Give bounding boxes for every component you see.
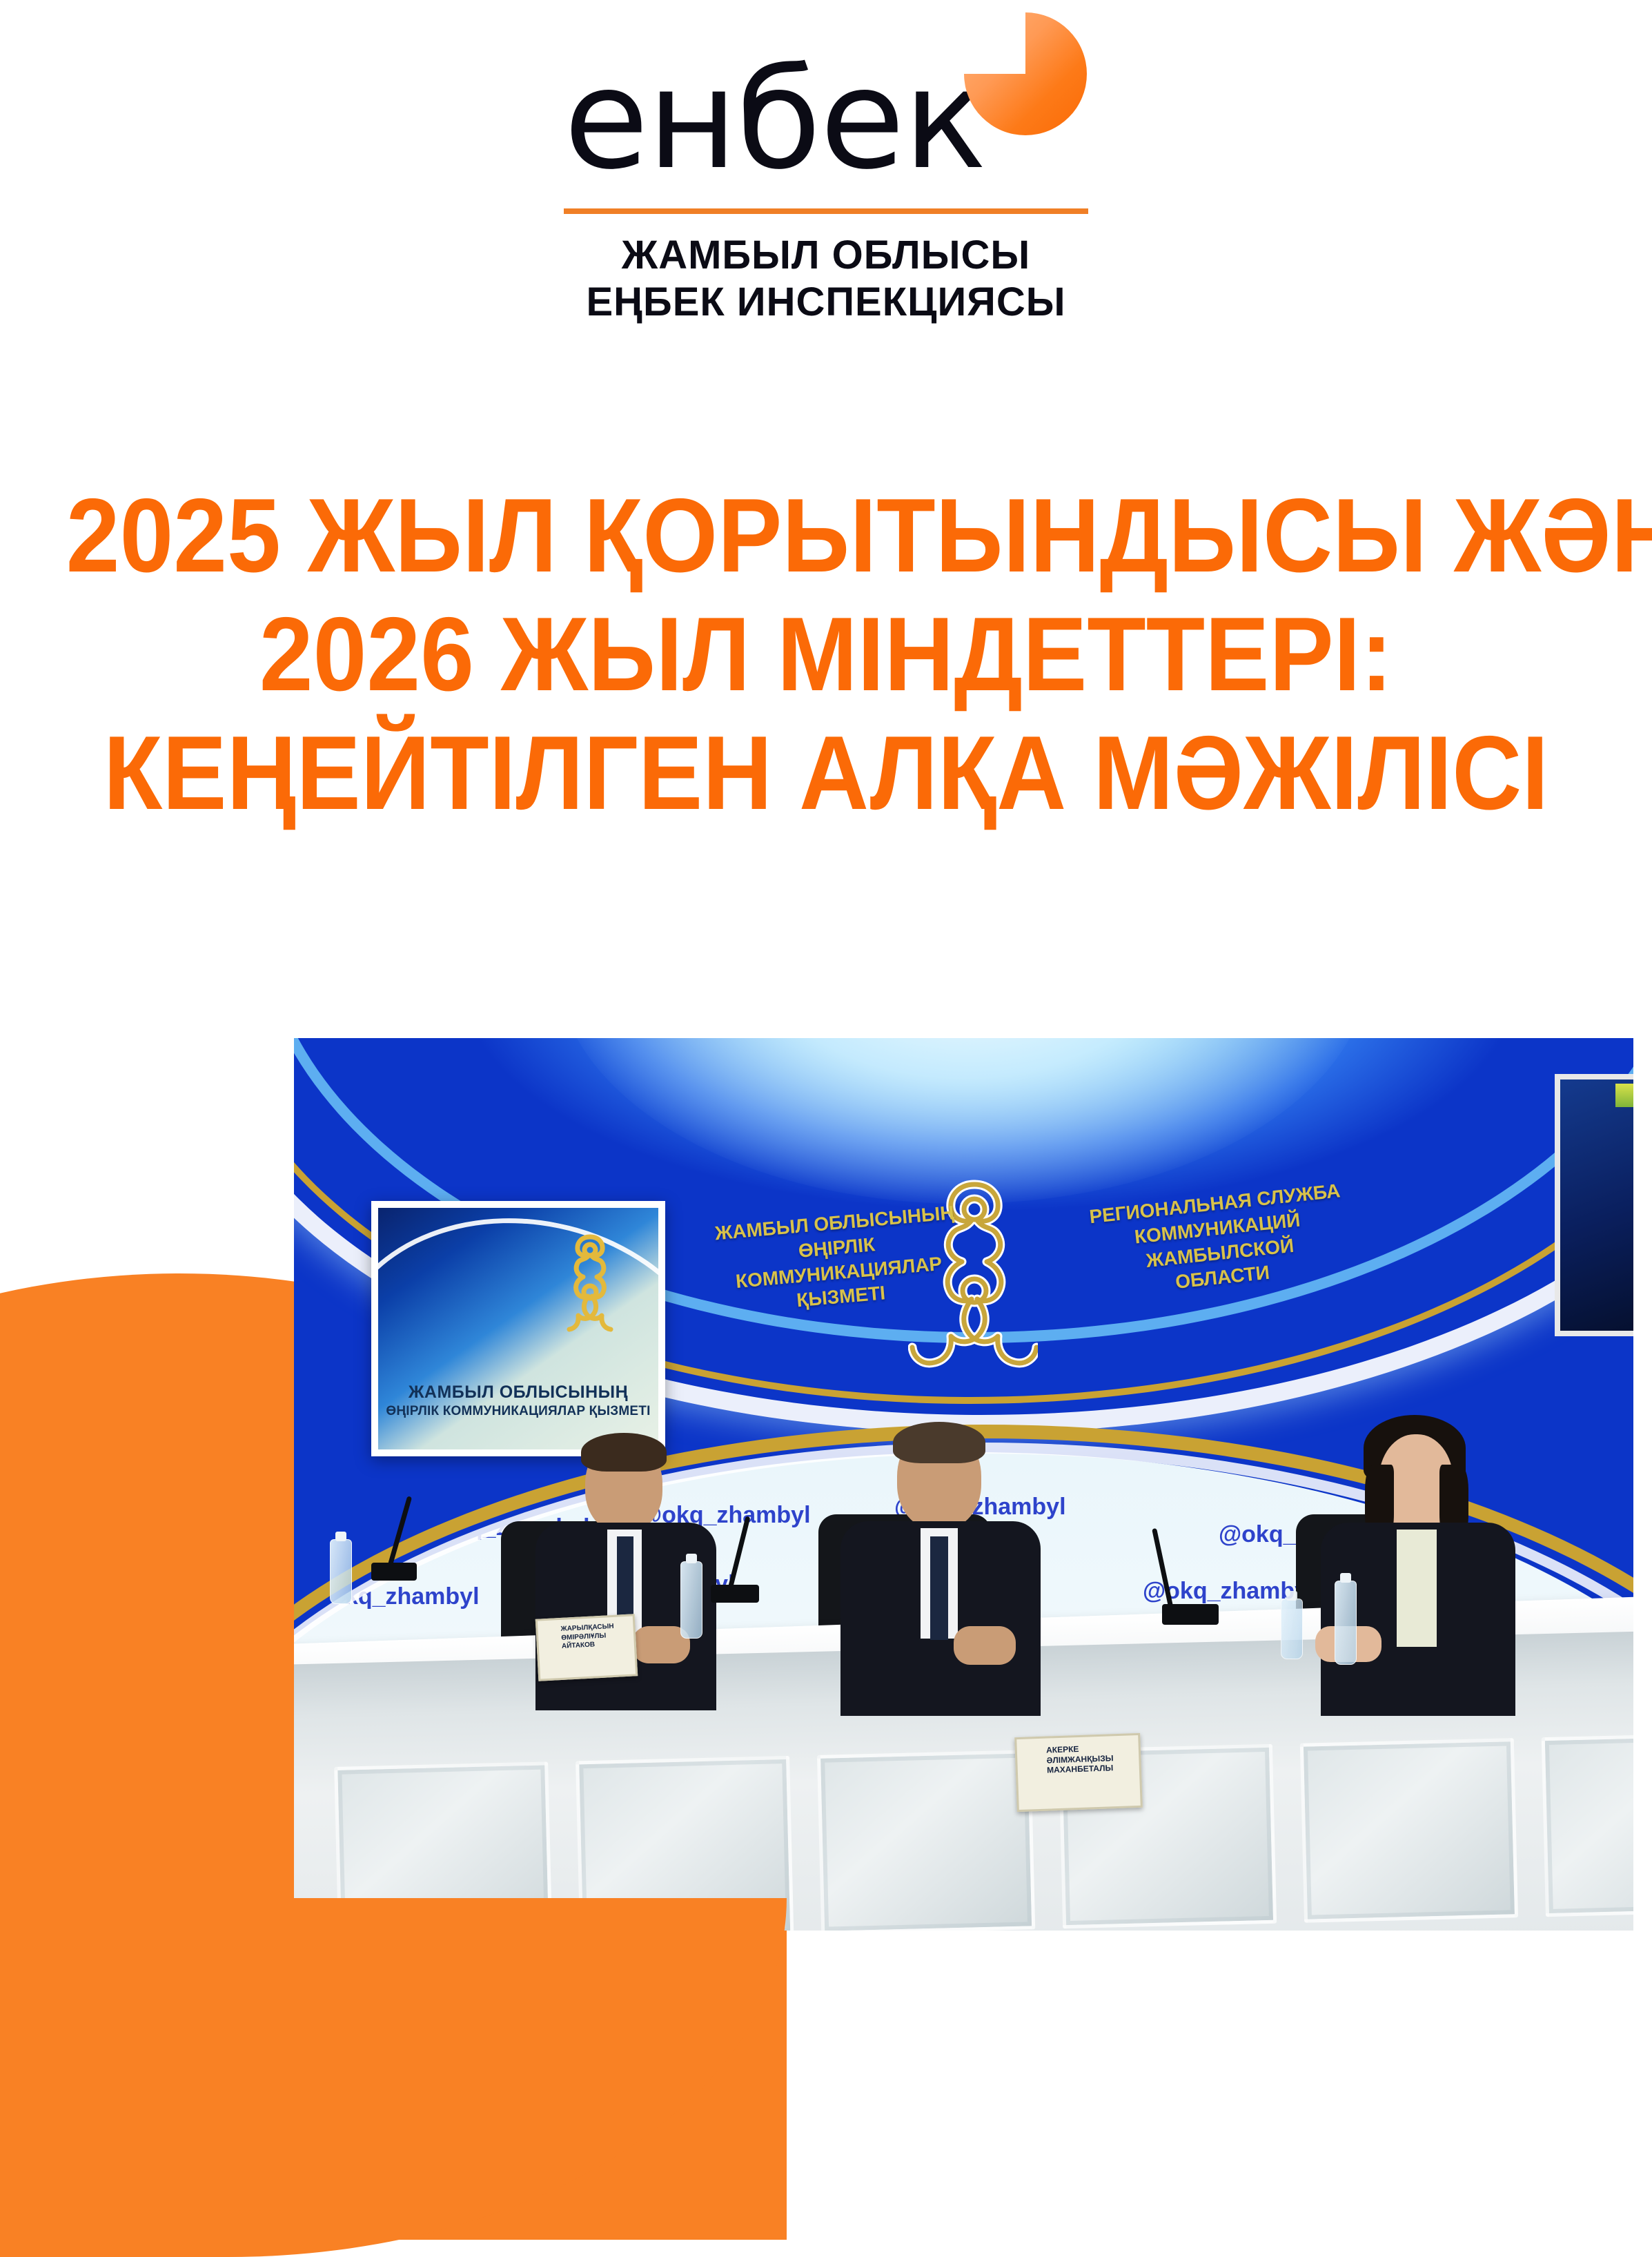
- nameplate-left-text: ЖАРЫЛҚАСЫН ӨМІРӘЛІҰЛЫ АЙТАКОВ: [560, 1622, 630, 1651]
- nameplate-right-line3: МАХАНБЕТАЛЫ: [1047, 1763, 1134, 1776]
- water-bottle: [1335, 1581, 1357, 1665]
- logo-subtitle: ЖАМБЫЛ ОБЛЫСЫ ЕҢБЕК ИНСПЕКЦИЯСЫ: [586, 232, 1065, 326]
- table-panel: [1542, 1732, 1633, 1917]
- page-title: 2025 ЖЫЛ ҚОРЫТЫНДЫСЫ ЖӘНЕ 2026 ЖЫЛ МІНДЕ…: [66, 476, 1586, 832]
- nameplate-right-text: АКЕРКЕ ӘЛІМЖАНҚЫЗЫ МАХАНБЕТАЛЫ: [1046, 1742, 1134, 1775]
- brand-logo: енбек ЖАМБЫЛ ОБЛЫСЫ ЕҢБЕК ИНСПЕКЦИЯСЫ: [0, 0, 1652, 326]
- wall-screen-panel: ЖАМБЫЛ ОБЛЫСЫНЫҢ ӨҢІРЛІК КОММУНИКАЦИЯЛАР…: [371, 1201, 665, 1456]
- page-title-line2: 2026 ЖЫЛ МІНДЕТТЕРІ:: [66, 595, 1586, 714]
- logo-divider: [564, 208, 1088, 214]
- nameplate-left: ЖАРЫЛҚАСЫН ӨМІРӘЛІҰЛЫ АЙТАКОВ: [535, 1614, 638, 1681]
- page-title-line3: КЕҢЕЙТІЛГЕН АЛҚА МӘЖІЛІСІ: [66, 714, 1586, 832]
- speaker-right: [1307, 1419, 1528, 1716]
- screen-caption-line1: ЖАМБЫЛ ОБЛЫСЫНЫҢ: [378, 1382, 658, 1403]
- water-bottle: [680, 1561, 702, 1639]
- logo-subtitle-line2: ЕҢБЕК ИНСПЕКЦИЯСЫ: [586, 279, 1065, 326]
- page-title-line1: 2025 ЖЫЛ ҚОРЫТЫНДЫСЫ ЖӘНЕ: [66, 476, 1586, 595]
- speaker-center: [831, 1425, 1052, 1714]
- table-panel: [1300, 1738, 1518, 1922]
- side-wall-monitor: [1555, 1074, 1633, 1336]
- screen-emblem-icon: [556, 1231, 622, 1347]
- water-bottle: [1281, 1599, 1303, 1659]
- water-bottle: [330, 1539, 352, 1604]
- logo-mark-row: енбек: [564, 12, 1088, 206]
- nameplate-right: АКЕРКЕ ӘЛІМЖАНҚЫЗЫ МАХАНБЕТАЛЫ: [1014, 1733, 1143, 1812]
- table-panel: [817, 1750, 1035, 1931]
- press-conference-photo: @okq_zhambyl@okq_zhambyl@okq_zhambyl@okq…: [294, 1038, 1633, 1931]
- logo-wordmark: енбек: [564, 51, 985, 189]
- monitor-highlight: [1615, 1084, 1633, 1107]
- microphone-base: [1162, 1604, 1219, 1625]
- screen-caption-line2: ӨҢІРЛІК КОММУНИКАЦИЯЛАР ҚЫЗМЕТІ: [378, 1403, 658, 1419]
- screen-caption: ЖАМБЫЛ ОБЛЫСЫНЫҢ ӨҢІРЛІК КОММУНИКАЦИЯЛАР…: [378, 1382, 658, 1419]
- logo-subtitle-line1: ЖАМБЫЛ ОБЛЫСЫ: [586, 232, 1065, 279]
- microphone-base: [371, 1563, 417, 1581]
- microphone-base: [711, 1585, 759, 1603]
- orange-notched-circle-icon: [964, 12, 1087, 135]
